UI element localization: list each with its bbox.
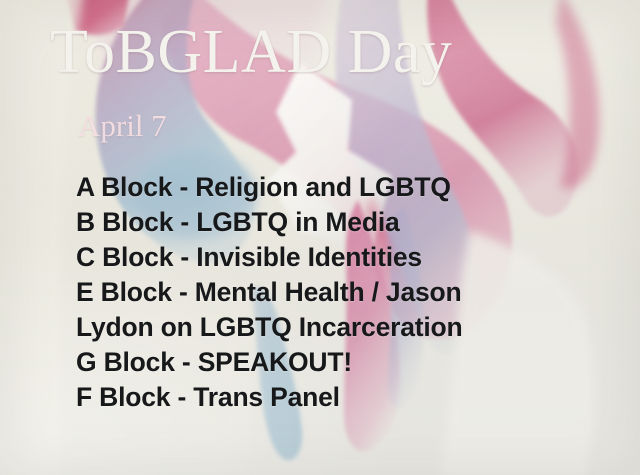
poster: ToBGLAD Day April 7 A Block - Religion a… xyxy=(0,0,640,475)
poster-content: ToBGLAD Day April 7 A Block - Religion a… xyxy=(0,0,640,475)
schedule-line: G Block - SPEAKOUT! xyxy=(76,345,636,380)
schedule-line: C Block - Invisible Identities xyxy=(76,240,636,275)
schedule-line: A Block - Religion and LGBTQ xyxy=(76,170,636,205)
schedule-line: F Block - Trans Panel xyxy=(76,380,636,415)
schedule-list: A Block - Religion and LGBTQ B Block - L… xyxy=(76,170,636,415)
schedule-line: Lydon on LGBTQ Incarceration xyxy=(76,310,636,345)
schedule-line: B Block - LGBTQ in Media xyxy=(76,205,636,240)
poster-title: ToBGLAD Day xyxy=(50,21,452,83)
poster-date-subtitle: April 7 xyxy=(78,110,167,141)
schedule-line: E Block - Mental Health / Jason xyxy=(76,275,636,310)
